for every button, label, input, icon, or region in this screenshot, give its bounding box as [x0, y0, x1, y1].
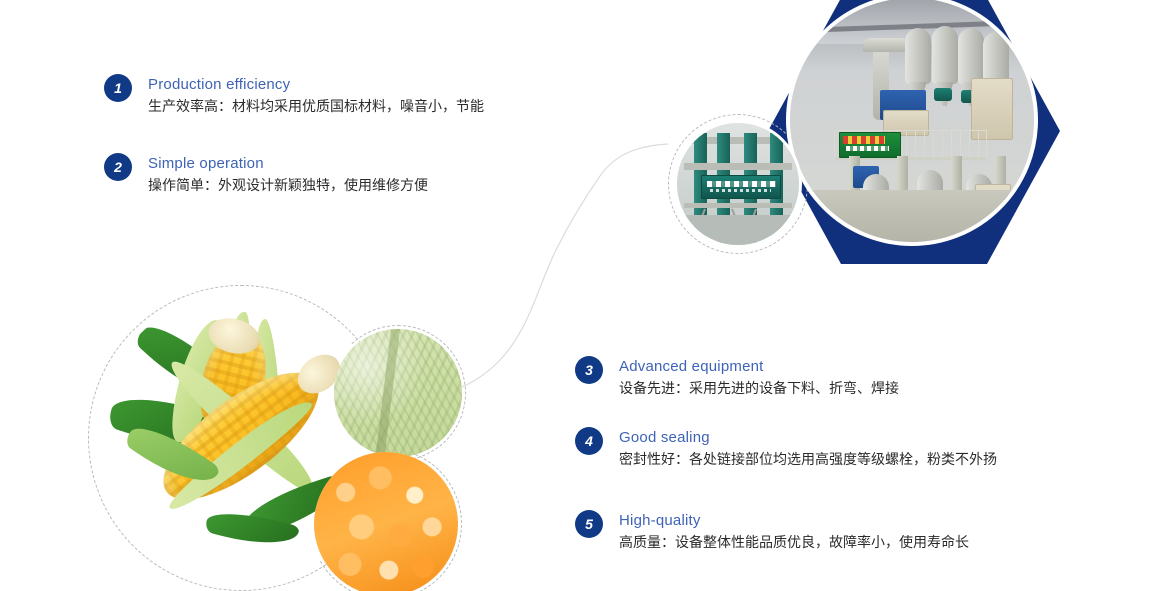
feature-badge-1: 1 [104, 74, 132, 102]
feature-item-2[interactable]: 2 Simple operation 操作简单：外观设计新颖独特，使用维修方便 [104, 153, 428, 196]
image-main-plant [786, 0, 1038, 246]
image-small-plant [674, 120, 802, 248]
feature-description-3: 设备先进：采用先进的设备下料、折弯、焊接 [619, 377, 899, 399]
feature-description-4: 密封性好：各处链接部位均选用高强度等级螺栓，粉类不外扬 [619, 448, 997, 470]
feature-title-4: Good sealing [619, 428, 997, 447]
image-corn-grits [314, 452, 458, 591]
feature-item-5[interactable]: 5 High-quality 高质量：设备整体性能品质优良，故障率小，使用寿命长 [575, 510, 969, 553]
feature-title-1: Production efficiency [148, 75, 484, 94]
feature-badge-4: 4 [575, 427, 603, 455]
feature-description-2: 操作简单：外观设计新颖独特，使用维修方便 [148, 174, 428, 196]
feature-description-5: 高质量：设备整体性能品质优良，故障率小，使用寿命长 [619, 531, 969, 553]
feature-badge-5: 5 [575, 510, 603, 538]
image-green-corn-meal [334, 329, 462, 457]
feature-badge-3: 3 [575, 356, 603, 384]
infographic-canvas: 1 Production efficiency 生产效率高：材料均采用优质国标材… [0, 0, 1154, 591]
feature-badge-2: 2 [104, 153, 132, 181]
feature-title-2: Simple operation [148, 154, 428, 173]
feature-title-3: Advanced equipment [619, 357, 899, 376]
feature-item-1[interactable]: 1 Production efficiency 生产效率高：材料均采用优质国标材… [104, 74, 484, 117]
feature-item-4[interactable]: 4 Good sealing 密封性好：各处链接部位均选用高强度等级螺栓，粉类不… [575, 427, 997, 470]
feature-title-5: High-quality [619, 511, 969, 530]
feature-item-3[interactable]: 3 Advanced equipment 设备先进：采用先进的设备下料、折弯、焊… [575, 356, 899, 399]
feature-description-1: 生产效率高：材料均采用优质国标材料，噪音小，节能 [148, 95, 484, 117]
